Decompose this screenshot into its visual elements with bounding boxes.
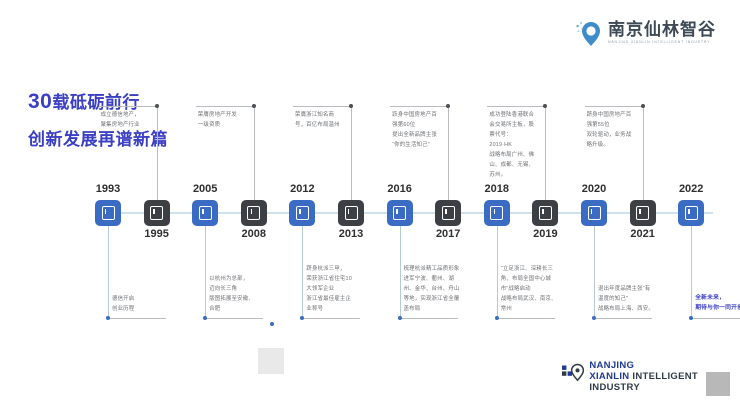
decor-square-grey-corner bbox=[706, 372, 730, 396]
timeline-connector-stub-2020 bbox=[594, 318, 652, 319]
timeline-connector-stub-2017 bbox=[390, 106, 448, 107]
timeline-year-2016: 2016 bbox=[374, 183, 426, 195]
timeline-note-1995: 成立德信地产， 聚集房地产行业 bbox=[101, 110, 163, 130]
timeline-year-2019: 2019 bbox=[519, 228, 571, 240]
timeline-connector-2018 bbox=[497, 226, 498, 318]
timeline-node-2021[interactable] bbox=[630, 200, 656, 226]
timeline-connector-2005 bbox=[205, 226, 206, 318]
timeline-connector-stub-2019 bbox=[487, 106, 545, 107]
timeline-node-2008[interactable] bbox=[241, 200, 267, 226]
timeline-note-2020: 退出年度品牌主张“有 温度的知己” 战略布局上海、西安。 bbox=[598, 284, 660, 314]
timeline-note-2018: “立足浙江、深耕长三 角、布局全国中心城 市”战略启动 战略布局武汉、南京、 常… bbox=[501, 264, 563, 314]
timeline-connector-stub-2022 bbox=[691, 318, 740, 319]
timeline-note-2005: 以杭州为总部， 迈向长三角 版图拓展至安徽、 合肥 bbox=[209, 274, 271, 314]
timeline-connector-dot-2020 bbox=[592, 316, 596, 320]
timeline-connector-dot-2021 bbox=[641, 104, 645, 108]
milestone-icon bbox=[150, 206, 163, 220]
timeline-connector-stub-2005 bbox=[205, 318, 263, 319]
timeline-connector-stub-2012 bbox=[302, 318, 360, 319]
timeline-connector-dot-2019 bbox=[543, 104, 547, 108]
timeline-note-2017: 跃身中国房地产百 强第60位 提出全新品牌主张 “你的生活知己” bbox=[392, 110, 454, 150]
timeline-node-1993[interactable] bbox=[95, 200, 121, 226]
location-pin-icon bbox=[575, 18, 601, 48]
timeline-connector-dot-2022 bbox=[689, 316, 693, 320]
timeline-year-2018: 2018 bbox=[471, 183, 523, 195]
timeline-connector-stub-2013 bbox=[293, 106, 351, 107]
brand-bottom-text: NANJING XIANLIN INTELLIGENT INDUSTRY bbox=[589, 361, 698, 394]
timeline-note-2016: 梳理杭派精工品质形象 进军宁波、衢州、湖 州、金华、台州、舟山 等地，实现浙江省… bbox=[404, 264, 466, 314]
brand-top-name-cn: 南京仙林智谷 bbox=[608, 21, 716, 38]
timeline-connector-dot-2016 bbox=[398, 316, 402, 320]
timeline-note-1993: 德信开启 创业历程 bbox=[112, 294, 174, 314]
milestone-icon bbox=[636, 206, 649, 220]
timeline-connector-dot-2013 bbox=[349, 104, 353, 108]
timeline-connector-dot-2008 bbox=[252, 104, 256, 108]
milestone-icon bbox=[345, 206, 358, 220]
brand-logo-top: 南京仙林智谷 NANJING XIANLIN INTELLIGENT INDUS… bbox=[575, 18, 716, 48]
timeline-node-2018[interactable] bbox=[484, 200, 510, 226]
timeline-connector-stub-1993 bbox=[108, 318, 166, 319]
timeline-node-2019[interactable] bbox=[532, 200, 558, 226]
brand-bottom-intelligent: INTELLIGENT bbox=[632, 371, 698, 382]
timeline-connector-1993 bbox=[108, 226, 109, 318]
timeline-year-2008: 2008 bbox=[228, 228, 280, 240]
timeline-node-2013[interactable] bbox=[338, 200, 364, 226]
timeline-connector-dot-2012 bbox=[300, 316, 304, 320]
milestone-icon bbox=[442, 206, 455, 220]
timeline-connector-stub-2021 bbox=[585, 106, 643, 107]
timeline-note-2022: 全新未来， 期待与你一同开创 bbox=[695, 293, 740, 314]
milestone-icon bbox=[102, 206, 115, 220]
timeline-node-1995[interactable] bbox=[144, 200, 170, 226]
timeline-node-2017[interactable] bbox=[435, 200, 461, 226]
brand-top-name-en: NANJING XIANLIN INTELLIGENT INDUSTRY bbox=[608, 41, 716, 44]
timeline-note-2013: 荣膺浙江知名商 号，百亿布局温州 bbox=[295, 110, 357, 130]
timeline-node-2012[interactable] bbox=[289, 200, 315, 226]
milestone-icon bbox=[296, 206, 309, 220]
milestone-icon bbox=[588, 206, 601, 220]
decor-dot-blue-1 bbox=[270, 322, 274, 326]
milestone-icon bbox=[247, 206, 260, 220]
brand-top-text: 南京仙林智谷 NANJING XIANLIN INTELLIGENT INDUS… bbox=[608, 21, 716, 44]
timeline-connector-stub-2018 bbox=[497, 318, 555, 319]
timeline-year-2012: 2012 bbox=[276, 183, 328, 195]
timeline-year-1995: 1995 bbox=[131, 228, 183, 240]
timeline-node-2022[interactable] bbox=[678, 200, 704, 226]
timeline-connector-dot-1995 bbox=[155, 104, 159, 108]
brand-logo-bottom: NANJING XIANLIN INTELLIGENT INDUSTRY bbox=[562, 361, 698, 394]
location-pin-icon bbox=[562, 363, 584, 387]
timeline-connector-stub-2008 bbox=[196, 106, 254, 107]
timeline-node-2020[interactable] bbox=[581, 200, 607, 226]
timeline-year-2021: 2021 bbox=[617, 228, 669, 240]
brand-bottom-xianlin: XIANLIN bbox=[589, 371, 629, 382]
timeline-connector-stub-1995 bbox=[99, 106, 157, 107]
decor-square-grey-large bbox=[258, 348, 284, 374]
timeline-connector-2012 bbox=[302, 226, 303, 318]
timeline-note-2019: 成功登陆香港联合 会交易所主板，股 票代号： 2019·HK 战略布局广州、佛 … bbox=[489, 110, 551, 180]
timeline-connector-dot-2017 bbox=[446, 104, 450, 108]
timeline-year-2017: 2017 bbox=[422, 228, 474, 240]
timeline-year-2005: 2005 bbox=[179, 183, 231, 195]
timeline-note-2012: 跻身杭派三甲， 荣获浙江省住宅10 大领军企业 浙江省最佳雇主企 业称号 bbox=[306, 264, 368, 314]
timeline-connector-2022 bbox=[691, 226, 692, 318]
timeline-year-1993: 1993 bbox=[82, 183, 134, 195]
timeline-year-2020: 2020 bbox=[568, 183, 620, 195]
timeline-node-2016[interactable] bbox=[387, 200, 413, 226]
timeline-note-2021: 跻身中国房地产百 强第55位 双轮驱动，业务战 略升级。 bbox=[587, 110, 649, 150]
milestone-icon bbox=[393, 206, 406, 220]
milestone-icon bbox=[539, 206, 552, 220]
timeline-year-2013: 2013 bbox=[325, 228, 377, 240]
milestone-icon bbox=[490, 206, 503, 220]
timeline-connector-stub-2016 bbox=[400, 318, 458, 319]
timeline-connector-dot-2005 bbox=[203, 316, 207, 320]
timeline-connector-2016 bbox=[400, 226, 401, 318]
timeline-year-2022: 2022 bbox=[665, 183, 717, 195]
brand-bottom-line-3: INDUSTRY bbox=[589, 383, 698, 394]
milestone-icon bbox=[685, 206, 698, 220]
timeline-note-2008: 荣膺房地产开发 一级资质 bbox=[198, 110, 260, 130]
headline-number: 30 bbox=[28, 90, 52, 113]
timeline-node-2005[interactable] bbox=[192, 200, 218, 226]
timeline-connector-2020 bbox=[594, 226, 595, 318]
timeline-connector-dot-2018 bbox=[495, 316, 499, 320]
timeline-connector-dot-1993 bbox=[106, 316, 110, 320]
milestone-icon bbox=[199, 206, 212, 220]
